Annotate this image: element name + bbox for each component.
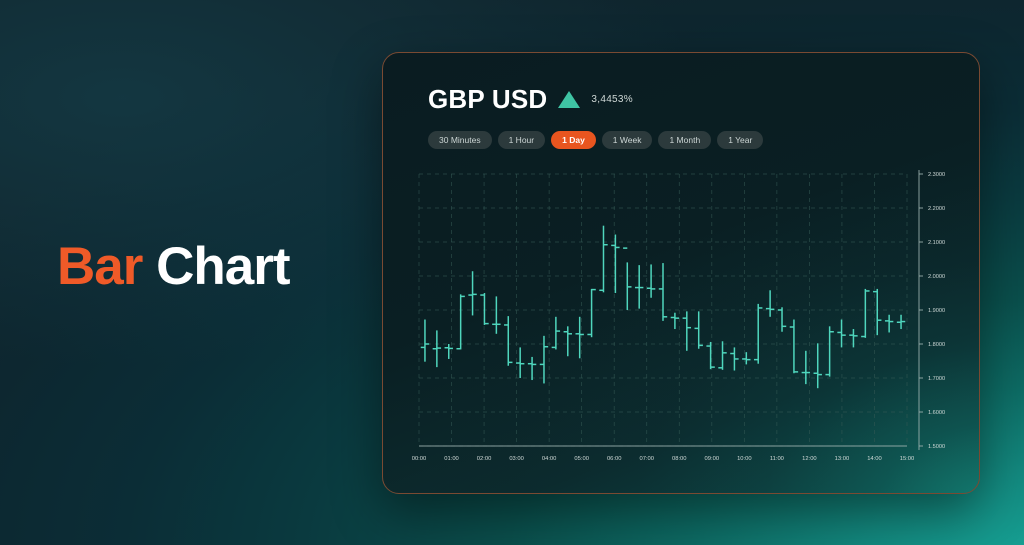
- ohlc-bar: [540, 336, 548, 384]
- y-axis-label: 1.8000: [928, 342, 945, 348]
- y-axis-label: 1.7000: [928, 376, 945, 382]
- x-axis-label: 04:00: [542, 456, 557, 462]
- tab-1-week[interactable]: 1 Week: [602, 131, 653, 149]
- ohlc-bar: [492, 296, 500, 333]
- x-axis-label: 06:00: [607, 456, 622, 462]
- x-axis-label: 11:00: [770, 456, 784, 462]
- card-header: GBP USD 3,4453%: [428, 86, 633, 112]
- ohlc-bar: [433, 330, 441, 367]
- x-axis-label: 15:00: [900, 456, 915, 462]
- ohlc-bar: [695, 311, 703, 348]
- ohlc-bar: [635, 265, 643, 309]
- x-axis-label: 13:00: [835, 456, 850, 462]
- ohlc-bar: [599, 226, 607, 293]
- ohlc-bar: [706, 342, 714, 369]
- y-axis-label: 1.5000: [928, 444, 945, 450]
- tab-1-month[interactable]: 1 Month: [658, 131, 711, 149]
- y-axis-label: 2.0000: [928, 274, 945, 280]
- ohlc-bar: [528, 357, 536, 380]
- x-axis-label: 02:00: [477, 456, 492, 462]
- x-axis-label: 01:00: [444, 456, 459, 462]
- y-axis-label: 2.1000: [928, 240, 945, 246]
- x-axis-label: 09:00: [705, 456, 720, 462]
- ohlc-bar: [587, 289, 595, 337]
- ohlc-bar: [885, 315, 893, 333]
- x-axis-label: 10:00: [737, 456, 752, 462]
- ohlc-bar: [516, 347, 524, 378]
- ohlc-bar: [837, 320, 845, 348]
- x-axis-label: 14:00: [867, 456, 882, 462]
- ohlc-bar: [623, 248, 631, 310]
- x-axis-label: 03:00: [509, 456, 524, 462]
- ohlc-bar: [564, 326, 572, 356]
- x-axis-label: 12:00: [802, 456, 817, 462]
- ohlc-bar: [480, 293, 488, 325]
- ohlc-bar: [778, 307, 786, 331]
- tab-30-minutes[interactable]: 30 Minutes: [428, 131, 492, 149]
- symbol-label: GBP USD: [428, 86, 547, 112]
- triangle-up-icon: [558, 91, 580, 108]
- y-axis-label: 2.2000: [928, 206, 945, 212]
- ohlc-bar: [718, 341, 726, 370]
- tab-1-day[interactable]: 1 Day: [551, 131, 596, 149]
- chart-plot-area: 2.30002.20002.10002.00001.90001.80001.70…: [383, 158, 979, 493]
- ohlc-bar: [611, 235, 619, 293]
- ohlc-bar: [754, 304, 762, 364]
- title-word-bar: Bar: [57, 237, 142, 296]
- ohlc-bar: [575, 317, 583, 358]
- timeframe-tabs[interactable]: 30 Minutes1 Hour1 Day1 Week1 Month1 Year: [428, 131, 763, 149]
- ohlc-bar: [790, 320, 798, 374]
- y-axis-label: 1.6000: [928, 410, 945, 416]
- ohlc-bar: [802, 351, 810, 384]
- ohlc-bar: [825, 326, 833, 376]
- change-percent: 3,4453%: [591, 94, 633, 105]
- ohlc-bar: [766, 290, 774, 317]
- x-axis-label: 05:00: [574, 456, 589, 462]
- page-title: Bar Chart: [57, 240, 290, 293]
- x-axis-label: 07:00: [639, 456, 654, 462]
- ohlc-bar: [671, 313, 679, 329]
- ohlc-bar: [647, 264, 655, 297]
- tab-1-hour[interactable]: 1 Hour: [498, 131, 546, 149]
- y-axis-label: 1.9000: [928, 308, 945, 314]
- ohlc-bar: [552, 317, 560, 350]
- ohlc-bar: [456, 294, 464, 349]
- chart-card: GBP USD 3,4453% 30 Minutes1 Hour1 Day1 W…: [382, 52, 980, 494]
- poster-canvas: Bar Chart GBP USD 3,4453% 30 Minutes1 Ho…: [0, 0, 1024, 545]
- ohlc-bar: [814, 343, 822, 388]
- ohlc-bar: [504, 316, 512, 366]
- x-axis-label: 08:00: [672, 456, 687, 462]
- ohlc-bar: [683, 311, 691, 350]
- ohlc-bar: [742, 352, 750, 364]
- title-word-chart: Chart: [156, 237, 289, 296]
- tab-1-year[interactable]: 1 Year: [717, 131, 763, 149]
- y-axis-label: 2.3000: [928, 172, 945, 178]
- x-axis-label: 00:00: [412, 456, 427, 462]
- ohlc-bar: [849, 329, 857, 347]
- ohlc-bar: [730, 347, 738, 370]
- ohlc-bar: [468, 271, 476, 315]
- ohlc-bar: [861, 289, 869, 338]
- ohlc-bar: [897, 315, 905, 329]
- ohlc-bar: [659, 263, 667, 321]
- ohlc-bar: [421, 320, 429, 362]
- ohlc-chart: 2.30002.20002.10002.00001.90001.80001.70…: [383, 158, 979, 493]
